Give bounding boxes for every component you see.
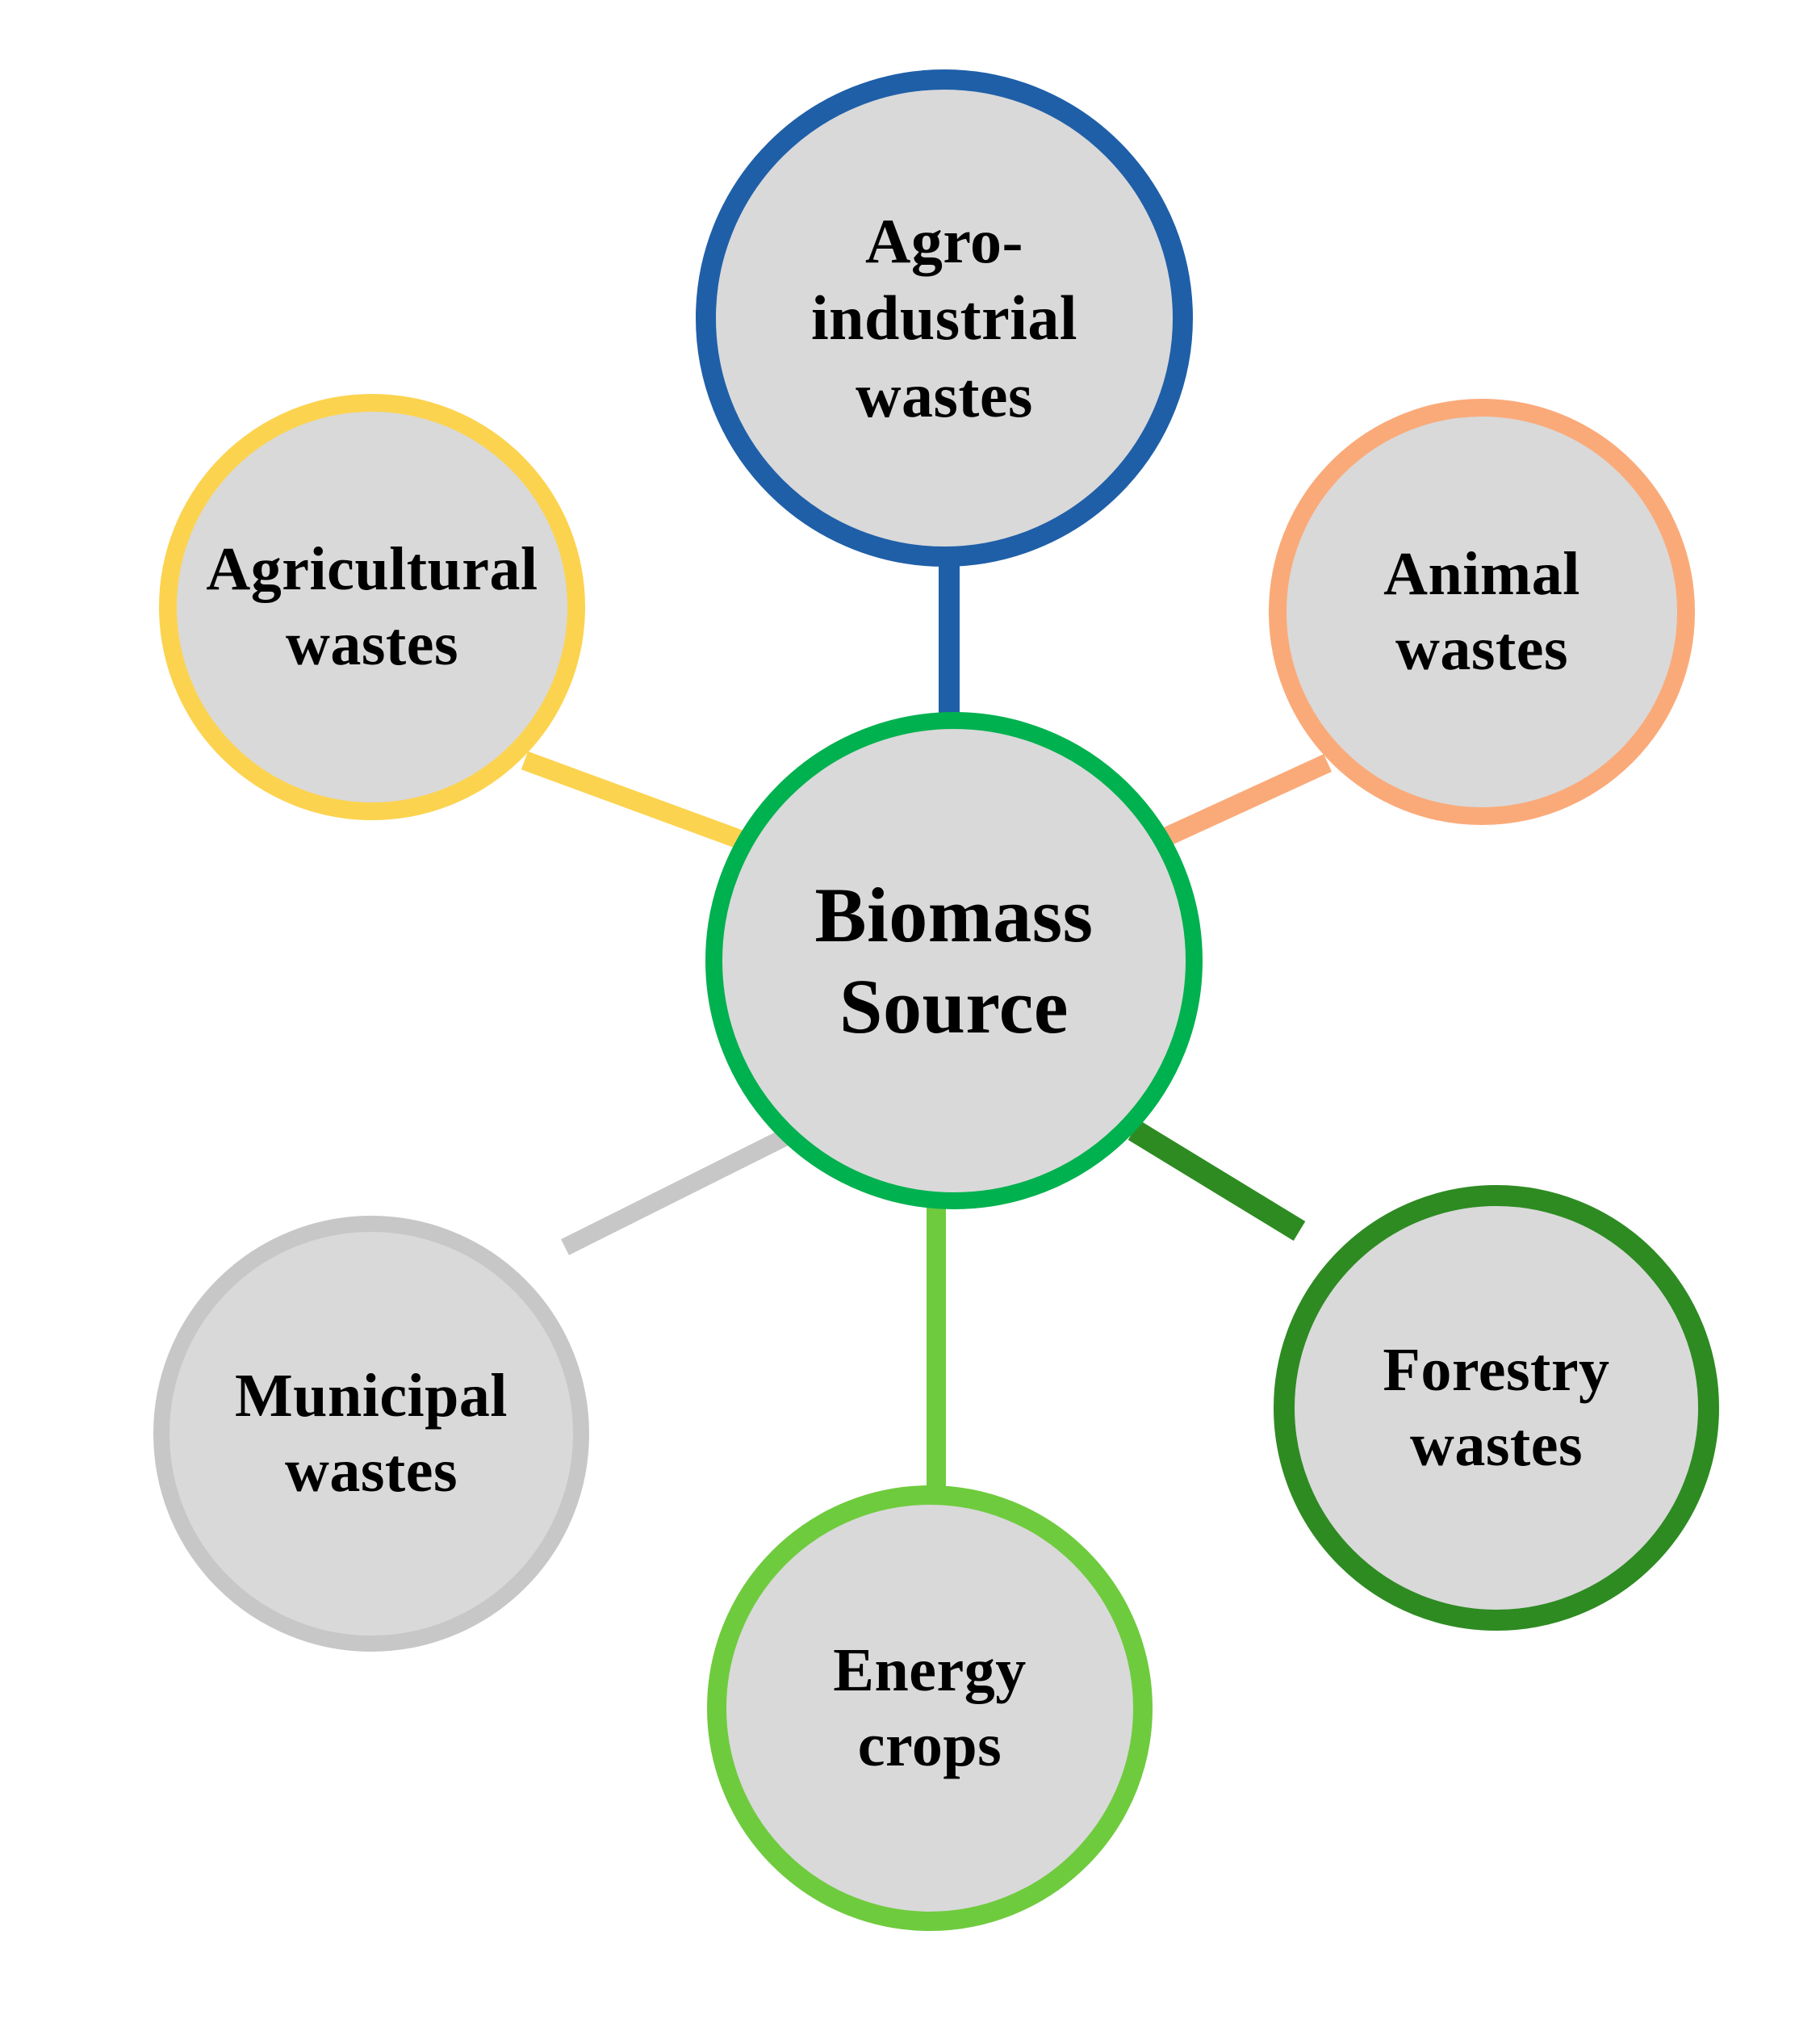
node-agricultural-wastes[interactable]: Agricultural wastes	[159, 394, 585, 820]
node-label-agricultural-wastes: Agricultural wastes	[182, 532, 561, 681]
node-label-animal-wastes: Animal wastes	[1360, 537, 1604, 686]
node-animal-wastes[interactable]: Animal wastes	[1269, 399, 1695, 825]
connector-forestry	[1134, 1130, 1299, 1231]
node-agro-industrial-wastes[interactable]: Agro- industrial wastes	[696, 69, 1193, 567]
biomass-source-diagram: Agro- industrial wastes Agricultural was…	[0, 0, 1820, 2023]
connector-municipal	[565, 1130, 799, 1247]
node-label-energy-crops: Energy crops	[809, 1633, 1051, 1782]
node-label-biomass-source: Biomass Source	[787, 869, 1121, 1053]
node-label-forestry-wastes: Forestry wastes	[1358, 1333, 1634, 1482]
node-forestry-wastes[interactable]: Forestry wastes	[1274, 1185, 1719, 1631]
node-municipal-wastes[interactable]: Municipal wastes	[153, 1216, 589, 1652]
node-label-agro-industrial-wastes: Agro- industrial wastes	[784, 203, 1105, 433]
node-biomass-source[interactable]: Biomass Source	[705, 712, 1203, 1209]
node-label-municipal-wastes: Municipal wastes	[211, 1359, 532, 1508]
node-energy-crops[interactable]: Energy crops	[707, 1485, 1153, 1931]
